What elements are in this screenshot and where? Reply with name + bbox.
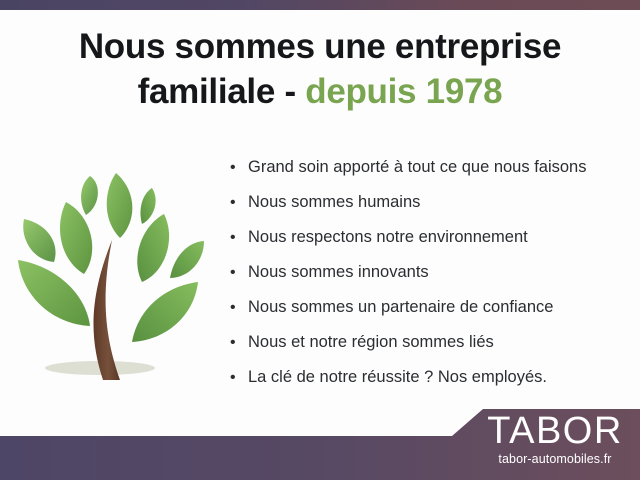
top-accent-bar: [0, 0, 640, 10]
page-title-highlight-year: depuis 1978: [305, 72, 502, 111]
bullet-icon: •: [230, 220, 236, 255]
tree-icon: [8, 140, 208, 390]
list-item-label: Grand soin apporté à tout ce que nous fa…: [248, 158, 586, 176]
bullet-icon: •: [230, 360, 236, 395]
list-item: • Grand soin apporté à tout ce que nous …: [228, 150, 628, 185]
list-item-label: Nous et notre région sommes liés: [248, 333, 494, 351]
list-item: • Nous et notre région sommes liés: [228, 325, 628, 360]
bullet-icon: •: [230, 290, 236, 325]
page-title: Nous sommes une entreprise familiale - d…: [0, 24, 640, 114]
tree-leaves: [18, 173, 204, 342]
list-item-label: Nous sommes innovants: [248, 263, 429, 281]
list-item-label: Nous sommes humains: [248, 193, 420, 211]
slide-canvas: Nous sommes une entreprise familiale - d…: [0, 0, 640, 480]
list-item-label: La clé de notre réussite ? Nos employés.: [248, 368, 547, 386]
tree-trunk: [93, 240, 120, 380]
list-item: • Nous sommes un partenaire de confiance: [228, 290, 628, 325]
list-item: • La clé de notre réussite ? Nos employé…: [228, 360, 628, 395]
bullet-icon: •: [230, 150, 236, 185]
list-item: • Nous sommes innovants: [228, 255, 628, 290]
bullet-icon: •: [230, 325, 236, 360]
page-title-line-2: familiale - depuis 1978: [0, 69, 640, 114]
bullet-icon: •: [230, 255, 236, 290]
value-proposition-list: • Grand soin apporté à tout ce que nous …: [228, 150, 628, 395]
page-title-line-2-black: familiale -: [138, 72, 306, 111]
brand-logo-tagline: tabor-automobiles.fr: [470, 451, 640, 467]
list-item: • Nous respectons notre environnement: [228, 220, 628, 255]
brand-logo[interactable]: TABOR tabor-automobiles.fr: [470, 412, 640, 467]
list-item-label: Nous sommes un partenaire de confiance: [248, 298, 553, 316]
list-item-label: Nous respectons notre environnement: [248, 228, 528, 246]
brand-logo-wordmark: TABOR: [470, 412, 640, 450]
tree-illustration: [8, 140, 208, 390]
list-item: • Nous sommes humains: [228, 185, 628, 220]
bullet-icon: •: [230, 185, 236, 220]
footer-band: TABOR tabor-automobiles.fr: [0, 400, 640, 480]
page-title-line-1: Nous sommes une entreprise: [0, 24, 640, 69]
